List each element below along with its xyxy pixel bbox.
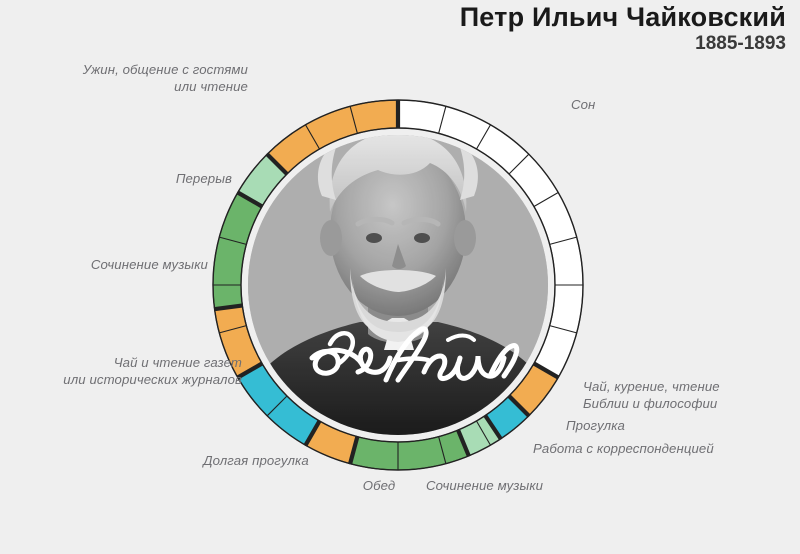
label-sleep: Сон — [571, 97, 661, 114]
label-tea-newspapers: Чай и чтение газет или исторических журн… — [0, 355, 242, 389]
label-composing-left: Сочинение музыки — [0, 257, 208, 274]
daily-routine-clock: Ужин, общение с гостями или чтение Перер… — [0, 0, 800, 554]
label-correspondence: Работа с корреспонденцией — [533, 441, 800, 458]
label-long-walk: Долгая прогулка — [186, 453, 326, 470]
label-composing-bottom: Сочинение музыки — [426, 478, 626, 495]
label-break: Перерыв — [62, 171, 232, 188]
ring-segment[interactable] — [350, 430, 469, 470]
label-dinner-guests: Ужин, общение с гостями или чтение — [18, 62, 248, 96]
label-tea-smoking: Чай, курение, чтение Библии и философии — [583, 379, 800, 413]
infographic-root: Петр Ильич Чайковский 1885-1893 — [0, 0, 800, 554]
label-walk: Прогулка — [566, 418, 686, 435]
label-lunch: Обед — [349, 478, 409, 495]
portrait-photo — [248, 132, 548, 435]
